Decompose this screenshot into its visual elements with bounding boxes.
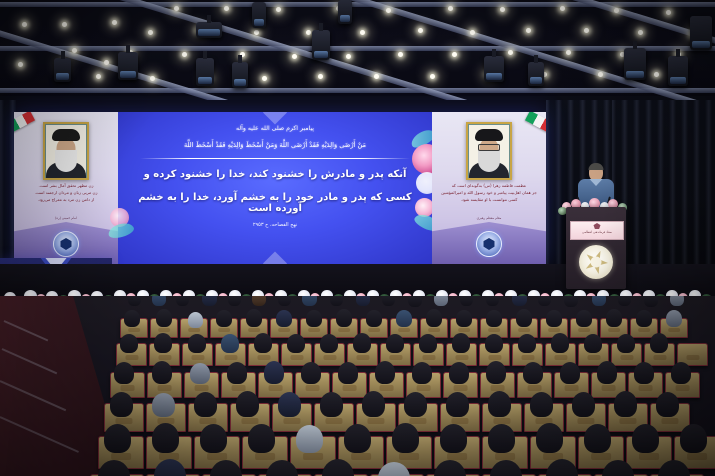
audience-person	[190, 363, 210, 384]
audience-person	[221, 334, 239, 353]
audience-person	[320, 392, 343, 417]
audience-person	[449, 362, 469, 384]
audience-person	[154, 333, 172, 353]
left-banner-quote: زن مظهر تحقق آمال بشر است. زن مربی زنان …	[19, 182, 113, 203]
audience-person	[330, 296, 343, 306]
audience-person	[124, 310, 140, 327]
audience-person	[302, 296, 317, 306]
police-emblem-icon	[476, 231, 502, 257]
audience-person	[426, 309, 442, 327]
audience-person	[176, 296, 189, 306]
audience-person	[572, 392, 595, 417]
main-led-screen: زن مظهر تحقق آمال بشر است. زن مربی زنان …	[14, 112, 546, 264]
audience-person	[408, 296, 422, 307]
audience-person	[485, 334, 503, 353]
audience-person	[452, 333, 470, 353]
audience-person	[488, 391, 511, 417]
audience-person	[392, 423, 419, 453]
audience-person	[120, 334, 138, 353]
audience-person	[564, 296, 578, 307]
audience-person	[440, 424, 467, 453]
audience-person	[634, 362, 654, 384]
audience-person	[666, 310, 682, 327]
audience-person	[246, 309, 262, 327]
audience-person	[434, 296, 448, 306]
audience-person	[356, 296, 370, 306]
podium-plate-emblem-icon	[594, 223, 601, 229]
iran-flag-ribbon-left	[14, 112, 35, 132]
audience-person	[301, 362, 321, 384]
audience-person	[366, 310, 382, 327]
audience-person	[614, 391, 637, 417]
audience-person	[584, 424, 611, 453]
audience-person	[530, 392, 553, 417]
audience-person	[551, 333, 569, 353]
stage-light-fixture	[118, 52, 138, 80]
audience-person	[202, 296, 217, 306]
stage-light-fixture	[312, 30, 330, 60]
podium-nameplate: ستاد فرماندهی انتظامی	[570, 221, 624, 240]
stage-light-fixture	[196, 22, 222, 38]
audience-person	[671, 362, 691, 384]
audience-person	[404, 392, 427, 417]
audience-person	[650, 333, 668, 353]
hadith-attribution: پیامبر اکرم صلی الله علیه وآله	[118, 125, 432, 132]
left-banner-attribution: امام خمینی (ره)	[14, 216, 118, 220]
imam-khomeini-portrait	[43, 122, 89, 180]
banner-right-khamenei: عظمت فاطمه زهرا (س) به‌گونه‌ای است که جز…	[432, 112, 546, 264]
audience-person	[248, 424, 275, 453]
persian-translation-line-1: آنکه پدر و مادرش را خشنود کند، خدا را خش…	[126, 169, 424, 180]
audience-person	[656, 392, 679, 417]
right-banner-quote-line-2: جز همان اهل‌بیت پیامبر و خود رسول الله و…	[437, 189, 541, 196]
stage-light-fixture	[338, 0, 352, 24]
audience-person	[632, 424, 659, 453]
audience-person	[128, 296, 141, 306]
right-banner-quote-line-3: کسی نتوانست با او مقایسه شود.	[437, 196, 541, 203]
podium-plate-text: ستاد فرماندهی انتظامی	[573, 230, 621, 234]
audience-person	[412, 362, 432, 384]
banner-left-khomeini: زن مظهر تحقق آمال بشر است. زن مربی زنان …	[14, 112, 118, 264]
audience-person	[538, 296, 551, 306]
audience-person	[382, 296, 395, 306]
audience-person	[670, 296, 684, 306]
audience-person	[375, 361, 395, 384]
stage-light-fixture	[528, 62, 544, 86]
audience-person	[152, 296, 166, 306]
audience-person	[264, 361, 284, 384]
podium: ستاد فرماندهی انتظامی	[566, 207, 626, 289]
audience-person	[523, 362, 543, 384]
audience-person	[188, 334, 206, 353]
stage-light-fixture	[54, 58, 71, 82]
audience-person	[644, 296, 658, 307]
audience-person	[152, 393, 175, 417]
audience-person	[110, 392, 133, 417]
faraja-star-emblem-icon	[579, 245, 613, 279]
audience-person	[488, 424, 515, 453]
right-banner-attribution: مقام معظم رهبری	[432, 216, 546, 220]
audience-person	[152, 423, 179, 453]
audience-person	[252, 296, 266, 306]
stage-light-fixture	[484, 56, 504, 82]
audience-person	[344, 424, 371, 453]
audience-person	[486, 310, 502, 327]
audience-person	[396, 310, 412, 327]
audience-person	[152, 361, 172, 384]
left-banner-quote-line-2: زن مربی زنان و مردان ارجمند است.	[19, 189, 113, 196]
audience-person	[336, 309, 352, 327]
audience-person	[353, 333, 371, 353]
audience-person	[114, 362, 134, 384]
audience-person	[278, 296, 291, 306]
divider-rule	[140, 158, 410, 159]
left-banner-quote-line-3: از دامن زن مرد به معراج می‌رود.	[19, 196, 113, 203]
audience-person	[216, 310, 232, 327]
right-banner-quote-line-1: عظمت فاطمه زهرا (س) به‌گونه‌ای است که	[437, 182, 541, 189]
audience-person	[512, 296, 527, 306]
audience-person	[617, 334, 635, 353]
audience-person	[338, 362, 358, 384]
audience-person	[486, 361, 506, 384]
stage-light-fixture	[690, 16, 712, 50]
iran-flag-ribbon-right	[525, 112, 546, 132]
audience-person	[460, 296, 473, 306]
audience-person	[194, 392, 217, 417]
audience-person	[188, 312, 203, 328]
arabic-hadith-text: مَنْ أَرْضَى وَالِدَيْهِ فَقَدْ أَرْضَى …	[118, 141, 432, 149]
right-banner-quote: عظمت فاطمه زهرا (س) به‌گونه‌ای است که جز…	[437, 182, 541, 203]
auditorium-photo: زن مظهر تحقق آمال بشر است. زن مربی زنان …	[0, 0, 715, 476]
audience-seating-area	[0, 296, 715, 476]
audience-person	[618, 296, 631, 306]
stage-curtain-right	[612, 100, 715, 282]
police-emblem-icon	[53, 231, 79, 257]
led-screen-content: پیامبر اکرم صلی الله علیه وآله مَنْ أَرْ…	[118, 112, 432, 264]
audience-person	[560, 362, 580, 384]
audience-person	[486, 296, 499, 306]
ayatollah-khamenei-portrait	[466, 122, 512, 180]
stage-light-fixture	[196, 58, 214, 86]
audience-person	[236, 391, 259, 417]
audience-person	[419, 334, 437, 353]
audience-person	[362, 391, 385, 417]
stage-light-fixture	[668, 56, 688, 86]
audience-person	[156, 309, 172, 327]
audience-person	[200, 424, 227, 453]
audience-person	[306, 310, 322, 327]
decorative-diamond-top	[263, 112, 287, 125]
audience-person	[446, 392, 469, 417]
stage-light-fixture	[252, 2, 266, 28]
audience-person	[516, 309, 532, 327]
stage-light-fixture	[232, 62, 248, 88]
audience-person	[296, 425, 323, 453]
audience-person	[576, 310, 592, 327]
audience-person	[278, 392, 301, 417]
hadith-citation: نهج الفصاحه، ح ۲۹۵۳	[118, 222, 432, 228]
audience-person	[228, 296, 241, 306]
audience-person	[536, 423, 563, 453]
audience-person	[386, 334, 404, 353]
audience-person	[320, 334, 338, 353]
ceiling-truss-area	[0, 0, 715, 112]
audience-person	[518, 334, 536, 353]
left-banner-quote-line-1: زن مظهر تحقق آمال بشر است.	[19, 182, 113, 189]
audience-person	[456, 310, 472, 327]
stage-light-fixture	[624, 48, 646, 80]
audience-person	[597, 361, 617, 384]
audience-person	[636, 310, 652, 327]
audience-person	[104, 424, 131, 453]
audience-person	[227, 362, 247, 384]
audience-person	[287, 334, 305, 353]
decorative-diamond-bottom	[263, 251, 287, 264]
audience-person	[254, 333, 272, 353]
audience-person	[606, 309, 622, 327]
audience-person	[680, 424, 707, 453]
persian-translation-line-2: کسی که پدر و مادر خود را به خشم آورد، خد…	[126, 192, 424, 214]
audience-person	[546, 310, 562, 327]
audience-person	[592, 296, 606, 306]
audience-person	[276, 310, 292, 327]
audience-person	[584, 334, 602, 353]
